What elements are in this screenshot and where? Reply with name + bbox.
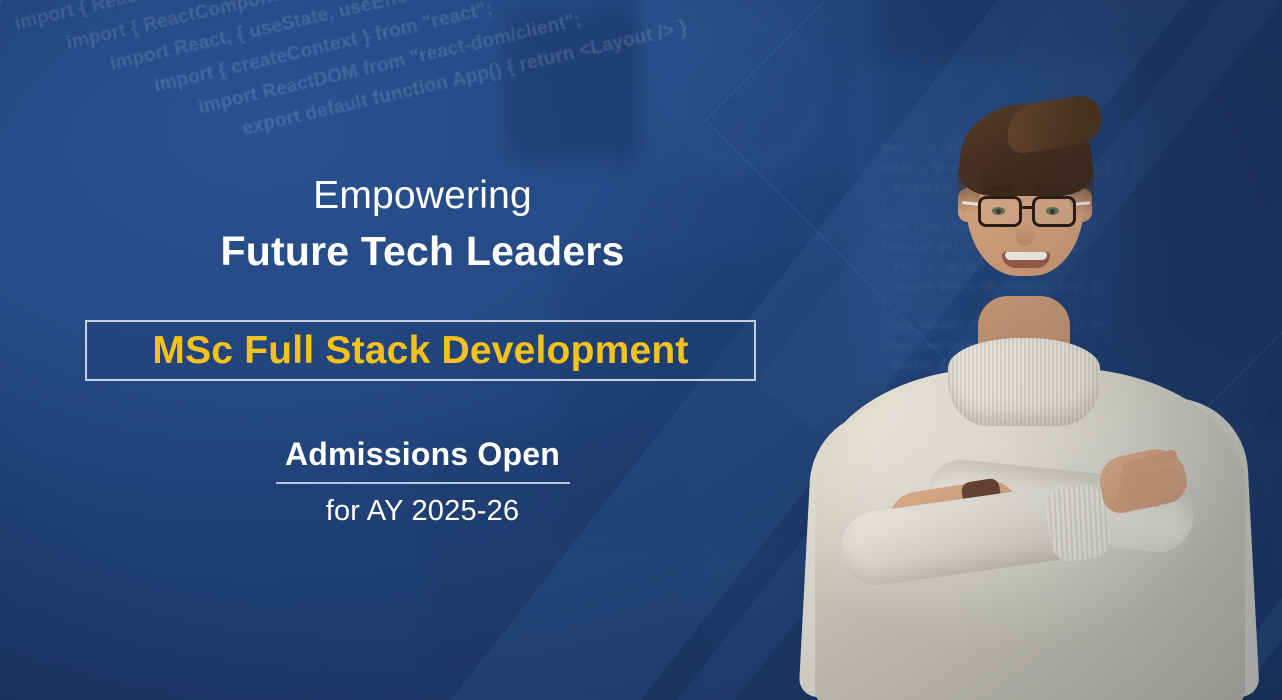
- left-pupil: [996, 209, 1001, 214]
- teeth: [1005, 252, 1047, 260]
- banner-copy-block: Empowering Future Tech Leaders MSc Full …: [0, 0, 840, 700]
- nose: [1016, 224, 1034, 246]
- glasses-temple-left: [962, 201, 980, 206]
- right-forearm-sleeve: [923, 456, 1197, 556]
- right-hand: [1095, 444, 1191, 517]
- admissions-block: Admissions Open for AY 2025-26: [0, 437, 845, 526]
- left-forearm-sleeve: [836, 480, 1106, 590]
- head: [966, 118, 1084, 276]
- wristwatch-hand: [984, 508, 990, 520]
- right-shoulder: [1088, 394, 1260, 700]
- eyebrow-text: Empowering: [0, 176, 845, 215]
- background-screen-code: $arr = array( 'key' => 'val' ); while ( …: [880, 140, 1137, 397]
- academic-year-label: for AY 2025-26: [0, 497, 845, 526]
- hair-fade-right: [1070, 158, 1094, 214]
- page-title: Future Tech Leaders: [0, 231, 845, 272]
- hair-sweep: [1003, 93, 1105, 155]
- left-forearm-skin: [884, 476, 1024, 558]
- sweater-torso: [815, 368, 1245, 700]
- right-ear: [1072, 188, 1092, 222]
- hair-fade-left: [958, 160, 980, 214]
- promo-banner: $arr = array( 'key' => 'val' ); while ( …: [0, 0, 1282, 700]
- finger: [1117, 480, 1172, 499]
- wristwatch-strap: [960, 477, 1009, 556]
- glasses-bridge: [1022, 206, 1034, 209]
- neck: [978, 296, 1070, 376]
- finger: [1119, 464, 1178, 488]
- wristwatch-subdial: [979, 524, 988, 533]
- right-eyebrow: [1036, 185, 1066, 195]
- left-eyebrow: [984, 185, 1014, 195]
- glasses-temple-right: [1074, 201, 1090, 206]
- finger: [1116, 494, 1163, 509]
- wristwatch-face: [963, 497, 1006, 540]
- divider-rule: [276, 482, 570, 484]
- course-title-box: MSc Full Stack Development: [85, 320, 756, 381]
- person-shadow: [790, 330, 1270, 700]
- left-eye: [992, 207, 1005, 215]
- admissions-status-label: Admissions Open: [285, 437, 560, 473]
- finger: [1121, 449, 1178, 476]
- glasses-lens-right: [1032, 196, 1076, 227]
- background-diagonal-stripe: [1074, 360, 1282, 700]
- sleeve-cuff: [1043, 482, 1113, 564]
- right-pupil: [1050, 209, 1055, 214]
- glasses-lens-left: [978, 196, 1022, 227]
- turtleneck-collar: [948, 338, 1100, 426]
- right-eye: [1046, 207, 1059, 215]
- course-title: MSc Full Stack Development: [152, 331, 688, 370]
- mouth: [1002, 252, 1050, 268]
- left-ear: [958, 188, 978, 222]
- hair: [960, 104, 1092, 196]
- person-photo: [770, 0, 1282, 700]
